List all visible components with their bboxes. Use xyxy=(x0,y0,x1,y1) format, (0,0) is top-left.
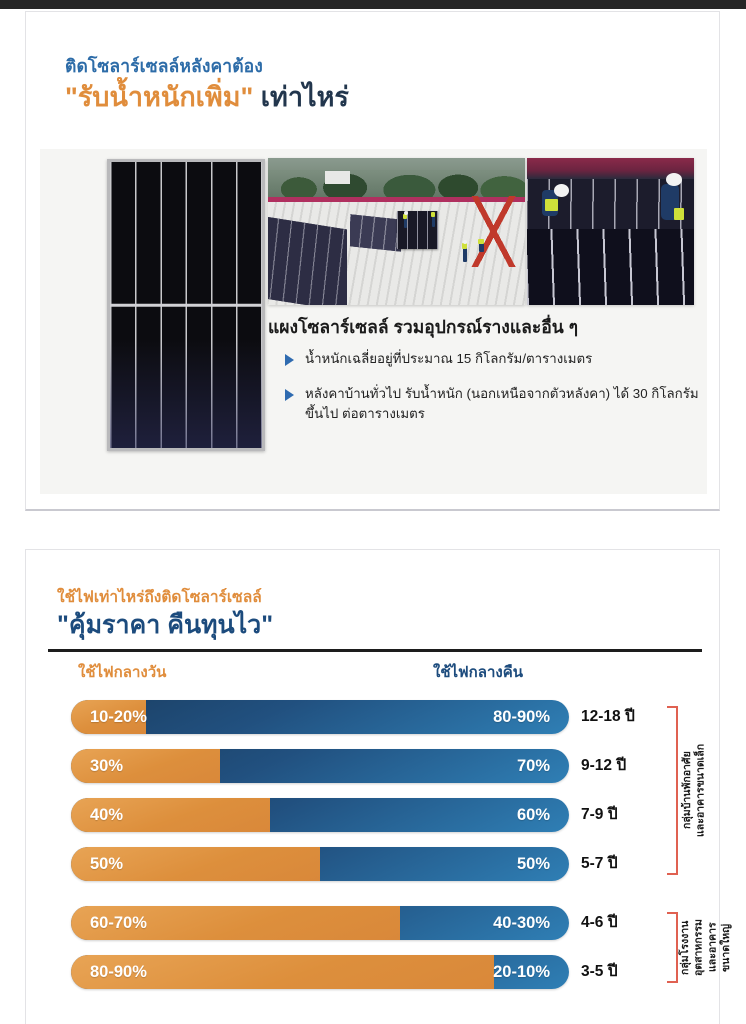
stacked-bar-chart: 10-20%80-90%12-18 ปี30%70%9-12 ปี40%60%7… xyxy=(71,700,571,1004)
bar-row: 40%60%7-9 ปี xyxy=(71,798,571,832)
bullet-text: หลังคาบ้านทั่วไป รับน้ำหนัก (นอกเหนือจาก… xyxy=(305,384,705,425)
bar-value-nighttime: 50% xyxy=(517,847,550,881)
solar-panel-product-photo xyxy=(107,159,265,451)
bar-value-nighttime: 40-30% xyxy=(493,906,550,940)
card1-heading-quote: "รับน้ำหนักเพิ่ม" xyxy=(65,82,253,112)
payback-chart-card: ใช้ไฟเท่าไหร่ถึงติดโซลาร์เซลล์ "คุ้มราคา… xyxy=(25,549,720,1024)
payback-years-label: 12-18 ปี xyxy=(581,700,635,734)
payback-years-label: 5-7 ปี xyxy=(581,847,618,881)
bar-value-daytime: 60-70% xyxy=(90,906,147,940)
bar-value-nighttime: 20-10% xyxy=(493,955,550,989)
solar-panel-cells xyxy=(110,162,262,448)
bar-row: 60-70%40-30%4-6 ปี xyxy=(71,906,571,940)
stacked-bar: 80-90%20-10% xyxy=(71,955,569,989)
group-bracket-residential xyxy=(667,706,678,875)
card2-heading-line1: ใช้ไฟเท่าไหร่ถึงติดโซลาร์เซลล์ xyxy=(57,588,719,608)
card1-heading-line1: ติดโซลาร์เซลล์หลังคาต้อง xyxy=(65,56,719,78)
bullet-item: หลังคาบ้านทั่วไป รับน้ำหนัก (นอกเหนือจาก… xyxy=(285,384,705,425)
card1-header: ติดโซลาร์เซลล์หลังคาต้อง "รับน้ำหนักเพิ่… xyxy=(26,12,719,115)
page-root: ติดโซลาร์เซลล์หลังคาต้อง "รับน้ำหนักเพิ่… xyxy=(0,0,746,1024)
group-label-residential: กลุ่มบ้านพักอาศัย และอาคารขนาดเล็ก xyxy=(681,706,708,875)
payback-years-label: 3-5 ปี xyxy=(581,955,618,989)
stacked-bar: 10-20%80-90% xyxy=(71,700,569,734)
bullet-text: น้ำหนักเฉลี่ยอยู่ที่ประมาณ 15 กิโลกรัม/ต… xyxy=(305,349,592,370)
group-bracket-industrial xyxy=(667,912,678,983)
card1-content-area: แผงโซลาร์เซลล์ รวมอุปกรณ์รางและอื่น ๆ น้… xyxy=(40,149,707,494)
card2-header: ใช้ไฟเท่าไหร่ถึงติดโซลาร์เซลล์ "คุ้มราคา… xyxy=(26,550,719,642)
header-divider xyxy=(48,649,702,652)
bar-row: 50%50%5-7 ปี xyxy=(71,847,571,881)
triangle-right-icon xyxy=(285,354,294,366)
workers-installing-panels-photo xyxy=(527,158,694,305)
payback-years-label: 7-9 ปี xyxy=(581,798,618,832)
card1-heading-rest: เท่าไหร่ xyxy=(253,82,349,112)
stacked-bar: 40%60% xyxy=(71,798,569,832)
triangle-right-icon xyxy=(285,389,294,401)
bar-row: 10-20%80-90%12-18 ปี xyxy=(71,700,571,734)
weight-info-card: ติดโซลาร์เซลล์หลังคาต้อง "รับน้ำหนักเพิ่… xyxy=(25,11,720,511)
bullet-item: น้ำหนักเฉลี่ยอยู่ที่ประมาณ 15 กิโลกรัม/ต… xyxy=(285,349,705,370)
bar-value-daytime: 80-90% xyxy=(90,955,147,989)
legend-daytime-label: ใช้ไฟกลางวัน xyxy=(78,660,166,684)
card2-heading-line2: "คุ้มราคา คืนทุนไว" xyxy=(57,609,719,642)
bar-row: 30%70%9-12 ปี xyxy=(71,749,571,783)
legend-nighttime-label: ใช้ไฟกลางคืน xyxy=(433,660,523,684)
bar-value-daytime: 40% xyxy=(90,798,123,832)
app-chrome-bar xyxy=(0,0,746,9)
stacked-bar: 30%70% xyxy=(71,749,569,783)
stacked-bar: 60-70%40-30% xyxy=(71,906,569,940)
bar-value-nighttime: 80-90% xyxy=(493,700,550,734)
bar-row: 80-90%20-10%3-5 ปี xyxy=(71,955,571,989)
card1-heading-line2: "รับน้ำหนักเพิ่ม" เท่าไหร่ xyxy=(65,80,719,115)
stacked-bar: 50%50% xyxy=(71,847,569,881)
payback-years-label: 4-6 ปี xyxy=(581,906,618,940)
bar-value-nighttime: 60% xyxy=(517,798,550,832)
card1-bullet-list: น้ำหนักเฉลี่ยอยู่ที่ประมาณ 15 กิโลกรัม/ต… xyxy=(285,349,705,439)
payback-years-label: 9-12 ปี xyxy=(581,749,626,783)
card1-body-caption: แผงโซลาร์เซลล์ รวมอุปกรณ์รางและอื่น ๆ xyxy=(268,313,578,341)
bar-value-daytime: 30% xyxy=(90,749,123,783)
rooftop-installation-photo xyxy=(268,158,525,305)
group-label-industrial: กลุ่มโรงงานอุตสาหกรรม และอาคารขนาดใหญ่ xyxy=(679,912,734,983)
bar-value-daytime: 10-20% xyxy=(90,700,147,734)
bar-value-daytime: 50% xyxy=(90,847,123,881)
bar-value-nighttime: 70% xyxy=(517,749,550,783)
